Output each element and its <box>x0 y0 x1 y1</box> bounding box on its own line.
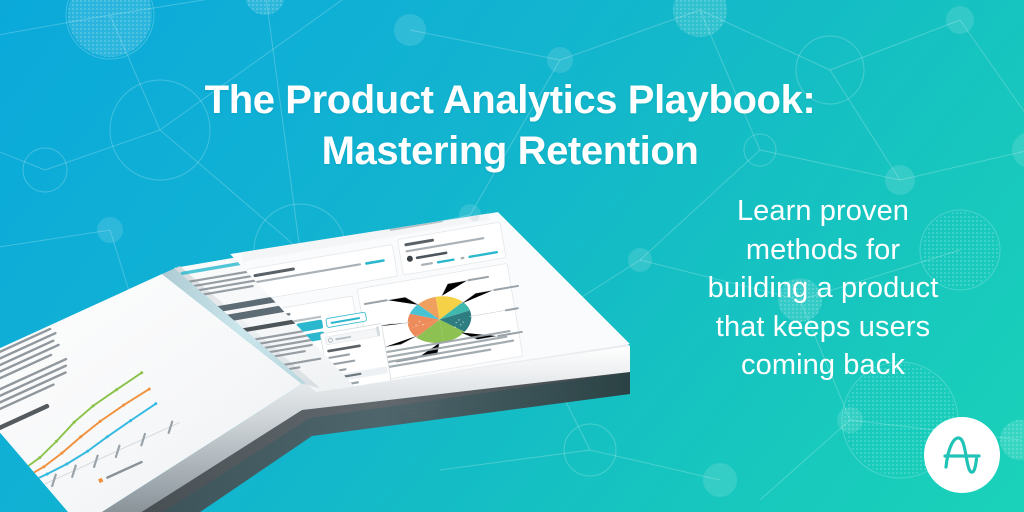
page-title: The Product Analytics Playbook: Masterin… <box>110 75 910 177</box>
subtitle-line-3: building a product <box>658 269 988 308</box>
subtitle-line-5: coming back <box>658 346 988 385</box>
amplitude-logo <box>924 417 1000 493</box>
subtitle-line-1: Learn proven <box>658 192 988 231</box>
amplitude-logo-icon <box>936 431 988 479</box>
title-line-2: Mastering Retention <box>110 126 910 177</box>
book-photo <box>0 196 690 512</box>
subtitle-line-2: methods for <box>658 231 988 270</box>
title-line-1: The Product Analytics Playbook: <box>110 75 910 126</box>
subtitle: Learn proven methods for building a prod… <box>658 192 988 385</box>
subtitle-line-4: that keeps users <box>658 308 988 347</box>
banner-canvas: The Product Analytics Playbook: Masterin… <box>0 0 1024 512</box>
